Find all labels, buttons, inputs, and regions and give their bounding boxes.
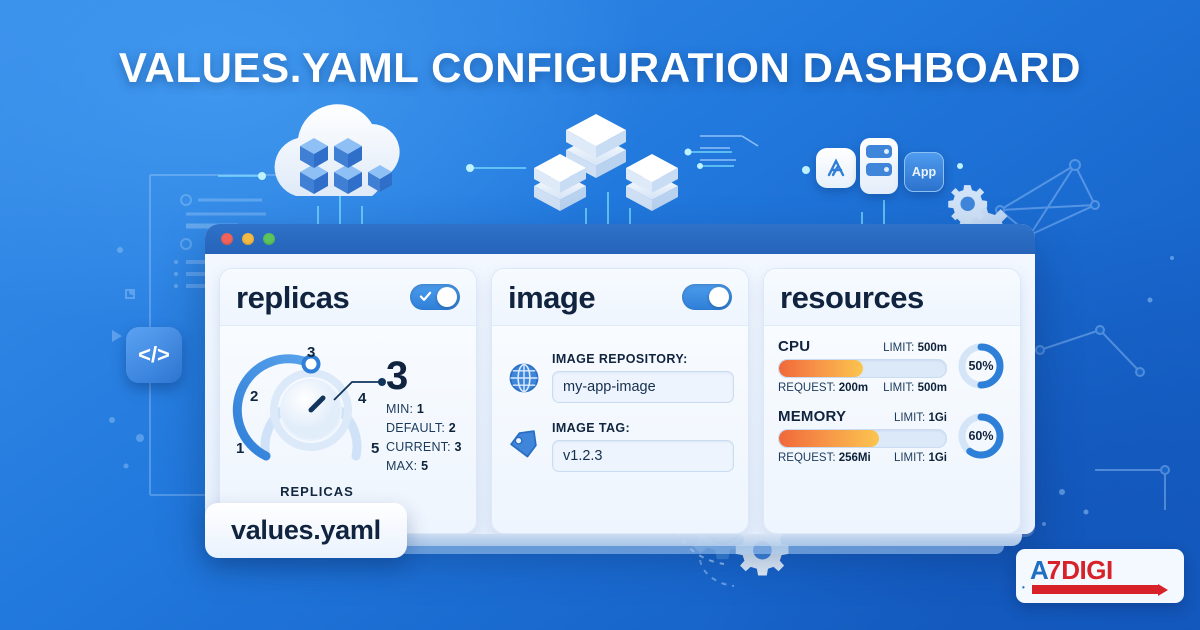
card-replicas: replicas — [219, 268, 477, 534]
window-body: replicas — [205, 254, 1035, 534]
toggle-knob — [709, 287, 729, 307]
stat-max: MAX: 5 — [386, 459, 462, 473]
dashed-arc-decor — [700, 560, 734, 586]
dashboard-window: replicas — [205, 224, 1035, 534]
cpu-name: CPU — [778, 338, 810, 355]
card-image: image — [491, 268, 749, 534]
image-repository-value: my-app-image — [563, 379, 656, 395]
dial-scale-4: 4 — [358, 390, 366, 407]
card-resources: resources CPU LIMIT: 500m — [763, 268, 1021, 534]
dial-scale-1: 1 — [236, 440, 244, 457]
gear-icon — [948, 185, 987, 223]
memory-percent: 60% — [956, 411, 1006, 461]
memory-request: REQUEST: 256Mi — [778, 452, 871, 464]
logo-arrow-icon — [1158, 584, 1168, 596]
window-maximize-dot[interactable] — [263, 233, 275, 245]
card-resources-body: CPU LIMIT: 500m REQUEST: 200m LIMIT: 500… — [764, 326, 1020, 533]
dot-grid-right — [1042, 256, 1174, 526]
resource-row-cpu: CPU LIMIT: 500m REQUEST: 200m LIMIT: 500… — [778, 338, 1006, 394]
values-yaml-pill[interactable]: values.yaml — [205, 503, 407, 558]
cloud-with-cubes-icon — [275, 104, 400, 196]
code-tile-label: </> — [138, 342, 170, 368]
logo-tagline-band — [1032, 585, 1158, 594]
dial-scale-2: 2 — [250, 388, 258, 405]
card-replicas-title: replicas — [236, 282, 349, 313]
cpu-gauge: 50% — [956, 341, 1006, 391]
image-toggle[interactable] — [682, 284, 732, 310]
app-tile-icon: App — [904, 152, 944, 192]
card-replicas-header: replicas — [220, 269, 476, 326]
field-image-repository: IMAGE REPOSITORY: my-app-image — [506, 352, 734, 403]
globe-icon — [506, 360, 542, 396]
dial-scale-5: 5 — [371, 440, 379, 457]
cpu-percent: 50% — [956, 341, 1006, 391]
a7digi-logo: A 7 DIGI • — [1016, 549, 1184, 603]
server-rack-icon — [860, 138, 898, 194]
stat-min: MIN: 1 — [386, 402, 462, 416]
memory-usage-fill — [779, 430, 879, 447]
memory-usage-bar — [778, 429, 947, 448]
replicas-caption: REPLICAS — [242, 484, 392, 499]
cpu-usage-bar — [778, 359, 947, 378]
replicas-stats: MIN: 1 DEFAULT: 2 CURRENT: 3 MAX: 5 — [386, 402, 462, 478]
replicas-toggle[interactable] — [410, 284, 460, 310]
replicas-value: 3 — [386, 356, 408, 396]
image-tag-label: IMAGE TAG: — [552, 421, 734, 435]
card-image-header: image — [492, 269, 748, 326]
cpu-request: REQUEST: 200m — [778, 382, 868, 394]
resource-row-memory: MEMORY LIMIT: 1Gi REQUEST: 256Mi LIMIT: … — [778, 408, 1006, 464]
image-repository-input[interactable]: my-app-image — [552, 371, 734, 403]
image-tag-value: v1.2.3 — [563, 448, 603, 464]
page-title: VALUES.YAML CONFIGURATION DASHBOARD — [0, 44, 1200, 92]
window-titlebar — [205, 224, 1035, 254]
check-icon — [419, 290, 432, 303]
card-image-body: IMAGE REPOSITORY: my-app-image IMAG — [492, 326, 748, 533]
cpu-limit: LIMIT: 500m — [883, 382, 947, 394]
logo-name: DIGI — [1061, 557, 1112, 583]
card-resources-header: resources — [764, 269, 1020, 326]
image-repository-label: IMAGE REPOSITORY: — [552, 352, 734, 366]
app-tile-label: App — [912, 165, 936, 179]
card-replicas-body: 1 2 3 4 5 3 MIN: 1 DEFAULT: 2 CURRENT: 3… — [220, 326, 476, 533]
field-image-tag: IMAGE TAG: v1.2.3 — [506, 421, 734, 472]
window-minimize-dot[interactable] — [242, 233, 254, 245]
memory-gauge: 60% — [956, 411, 1006, 461]
tag-icon — [506, 429, 542, 465]
stat-current: CURRENT: 3 — [386, 440, 462, 454]
card-image-title: image — [508, 282, 595, 313]
app-store-icon — [816, 148, 856, 188]
memory-limit: LIMIT: 1Gi — [894, 452, 947, 464]
logo-seven: 7 — [1047, 557, 1061, 583]
toggle-knob — [437, 287, 457, 307]
dial-scale-3: 3 — [307, 344, 315, 361]
poster-canvas: VALUES.YAML CONFIGURATION DASHBOARD </> … — [0, 0, 1200, 630]
card-resources-title: resources — [780, 282, 924, 313]
cpu-usage-fill — [779, 360, 863, 377]
image-tag-input[interactable]: v1.2.3 — [552, 440, 734, 472]
server-stack-icon — [534, 114, 758, 211]
memory-top-limit: LIMIT: 1Gi — [894, 412, 947, 424]
cpu-top-limit: LIMIT: 500m — [883, 342, 947, 354]
logo-sub-mark: • — [1022, 583, 1025, 592]
window-close-dot[interactable] — [221, 233, 233, 245]
stat-default: DEFAULT: 2 — [386, 421, 462, 435]
memory-name: MEMORY — [778, 408, 846, 425]
code-tile-icon: </> — [126, 327, 182, 383]
